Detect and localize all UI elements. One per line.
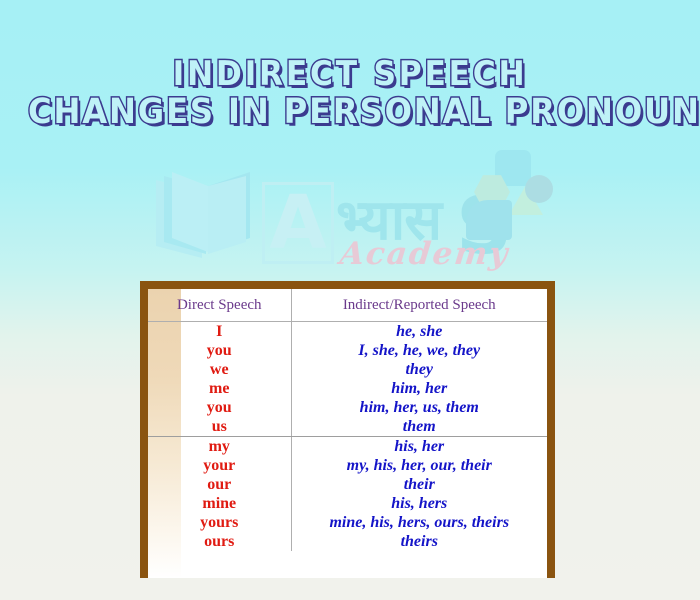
- watermark-logo: A भ्यास S Academy: [150, 158, 550, 293]
- indirect-pronoun: he, she: [292, 322, 548, 341]
- decorative-hexagon-shape: [474, 174, 510, 210]
- title-line-2: CHANGES IN PERSONAL PRONOUN: [28, 93, 672, 131]
- pronoun-table-inner: Direct Speech Indirect/Reported Speech I…: [148, 289, 547, 578]
- decorative-triangle-shape: [509, 185, 543, 215]
- indirect-pronoun: I, she, he, we, they: [292, 341, 548, 360]
- indirect-pronoun: their: [292, 475, 548, 494]
- direct-pronoun: we: [148, 360, 291, 379]
- indirect-pronoun: them: [292, 417, 548, 436]
- direct-pronoun: you: [148, 398, 291, 417]
- direct-pronoun: our: [148, 475, 291, 494]
- logo-hindi-text: भ्यास: [336, 180, 441, 256]
- table-row: my your our mine yours ours his, her my,…: [148, 437, 547, 552]
- direct-speech-cell-row1: I you we me you us: [148, 322, 291, 437]
- indirect-pronoun: him, her, us, them: [292, 398, 548, 417]
- indirect-pronoun: they: [292, 360, 548, 379]
- direct-pronoun: us: [148, 417, 291, 436]
- table-row: I you we me you us he, she I, she, he, w…: [148, 322, 547, 437]
- indirect-pronoun: him, her: [292, 379, 548, 398]
- logo-academy-script: Academy: [338, 236, 511, 272]
- direct-pronoun: you: [148, 341, 291, 360]
- direct-pronoun: yours: [148, 513, 291, 532]
- direct-pronoun: mine: [148, 494, 291, 513]
- indirect-speech-cell-row1: he, she I, she, he, we, they they him, h…: [291, 322, 547, 437]
- direct-pronoun: ours: [148, 532, 291, 551]
- decorative-square-shape: [495, 150, 531, 186]
- direct-pronoun: your: [148, 456, 291, 475]
- title-line-1: INDIRECT SPEECH: [28, 55, 672, 93]
- direct-speech-cell-row2: my your our mine yours ours: [148, 437, 291, 552]
- direct-pronoun: me: [148, 379, 291, 398]
- column-header-direct-speech: Direct Speech: [148, 289, 291, 322]
- table-header-row: Direct Speech Indirect/Reported Speech: [148, 289, 547, 322]
- open-book-icon: [150, 162, 262, 274]
- pronoun-table-frame: Direct Speech Indirect/Reported Speech I…: [140, 281, 555, 578]
- logo-letter-s: S: [456, 182, 512, 272]
- logo-letter-frame: [262, 182, 334, 264]
- column-header-indirect-speech: Indirect/Reported Speech: [291, 289, 547, 322]
- indirect-pronoun: his, hers: [292, 494, 548, 513]
- decorative-circle-shape: [525, 175, 553, 203]
- decorative-blob-shape: [466, 200, 512, 240]
- indirect-pronoun: his, her: [292, 437, 548, 456]
- direct-pronoun: my: [148, 437, 291, 456]
- slide-canvas: A भ्यास S Academy INDIRECT SPEECH CHANGE…: [0, 0, 700, 600]
- slide-title: INDIRECT SPEECH CHANGES IN PERSONAL PRON…: [0, 55, 700, 131]
- direct-pronoun: I: [148, 322, 291, 341]
- indirect-pronoun: theirs: [292, 532, 548, 551]
- indirect-pronoun: my, his, her, our, their: [292, 456, 548, 475]
- pronoun-changes-table: Direct Speech Indirect/Reported Speech I…: [148, 289, 547, 551]
- logo-letter-a: A: [262, 182, 334, 264]
- indirect-pronoun: mine, his, hers, ours, theirs: [292, 513, 548, 532]
- indirect-speech-cell-row2: his, her my, his, her, our, their their …: [291, 437, 547, 552]
